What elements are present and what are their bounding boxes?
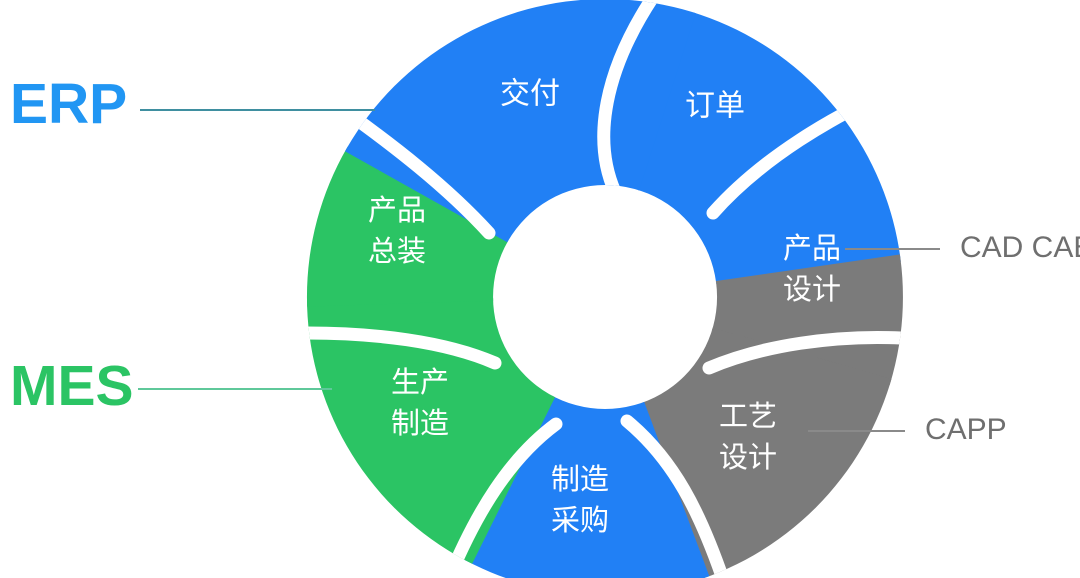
segment-label-dingdan: 订单: [685, 89, 745, 124]
segment-label-gongyisheji-line2: 设计: [719, 440, 777, 474]
segment-label-jiaofu: 交付: [500, 77, 560, 112]
segment-label-shengchan-line2: 制造: [391, 406, 449, 440]
label-mes[interactable]: MES: [10, 354, 134, 418]
segment-label-zongzhuang-line2: 总装: [368, 234, 426, 268]
label-capp[interactable]: CAPP: [925, 413, 1007, 446]
segment-label-shengchan-line1: 生产: [391, 365, 449, 399]
label-erp[interactable]: ERP: [10, 72, 127, 136]
segment-label-zongzhuang-line1: 产品: [368, 193, 426, 227]
cycle-donut-diagram: 交付 订单 产品 设计 工艺 设计 制造 采购 生产 制造 产品 总装: [0, 0, 1080, 578]
diagram-canvas: 交付 订单 产品 设计 工艺 设计 制造 采购 生产 制造 产品 总装: [0, 0, 1080, 578]
label-cad-cae[interactable]: CAD CAE: [960, 231, 1080, 264]
segment-label-zhizaocaigou-line1: 制造: [551, 462, 609, 496]
segment-label-gongyisheji-line1: 工艺: [719, 399, 777, 433]
segment-label-zhizaocaigou-line2: 采购: [551, 503, 609, 537]
segment-label-chanpinsheji-line2: 设计: [783, 272, 841, 306]
segment-label-chanpinsheji-line1: 产品: [783, 231, 841, 265]
